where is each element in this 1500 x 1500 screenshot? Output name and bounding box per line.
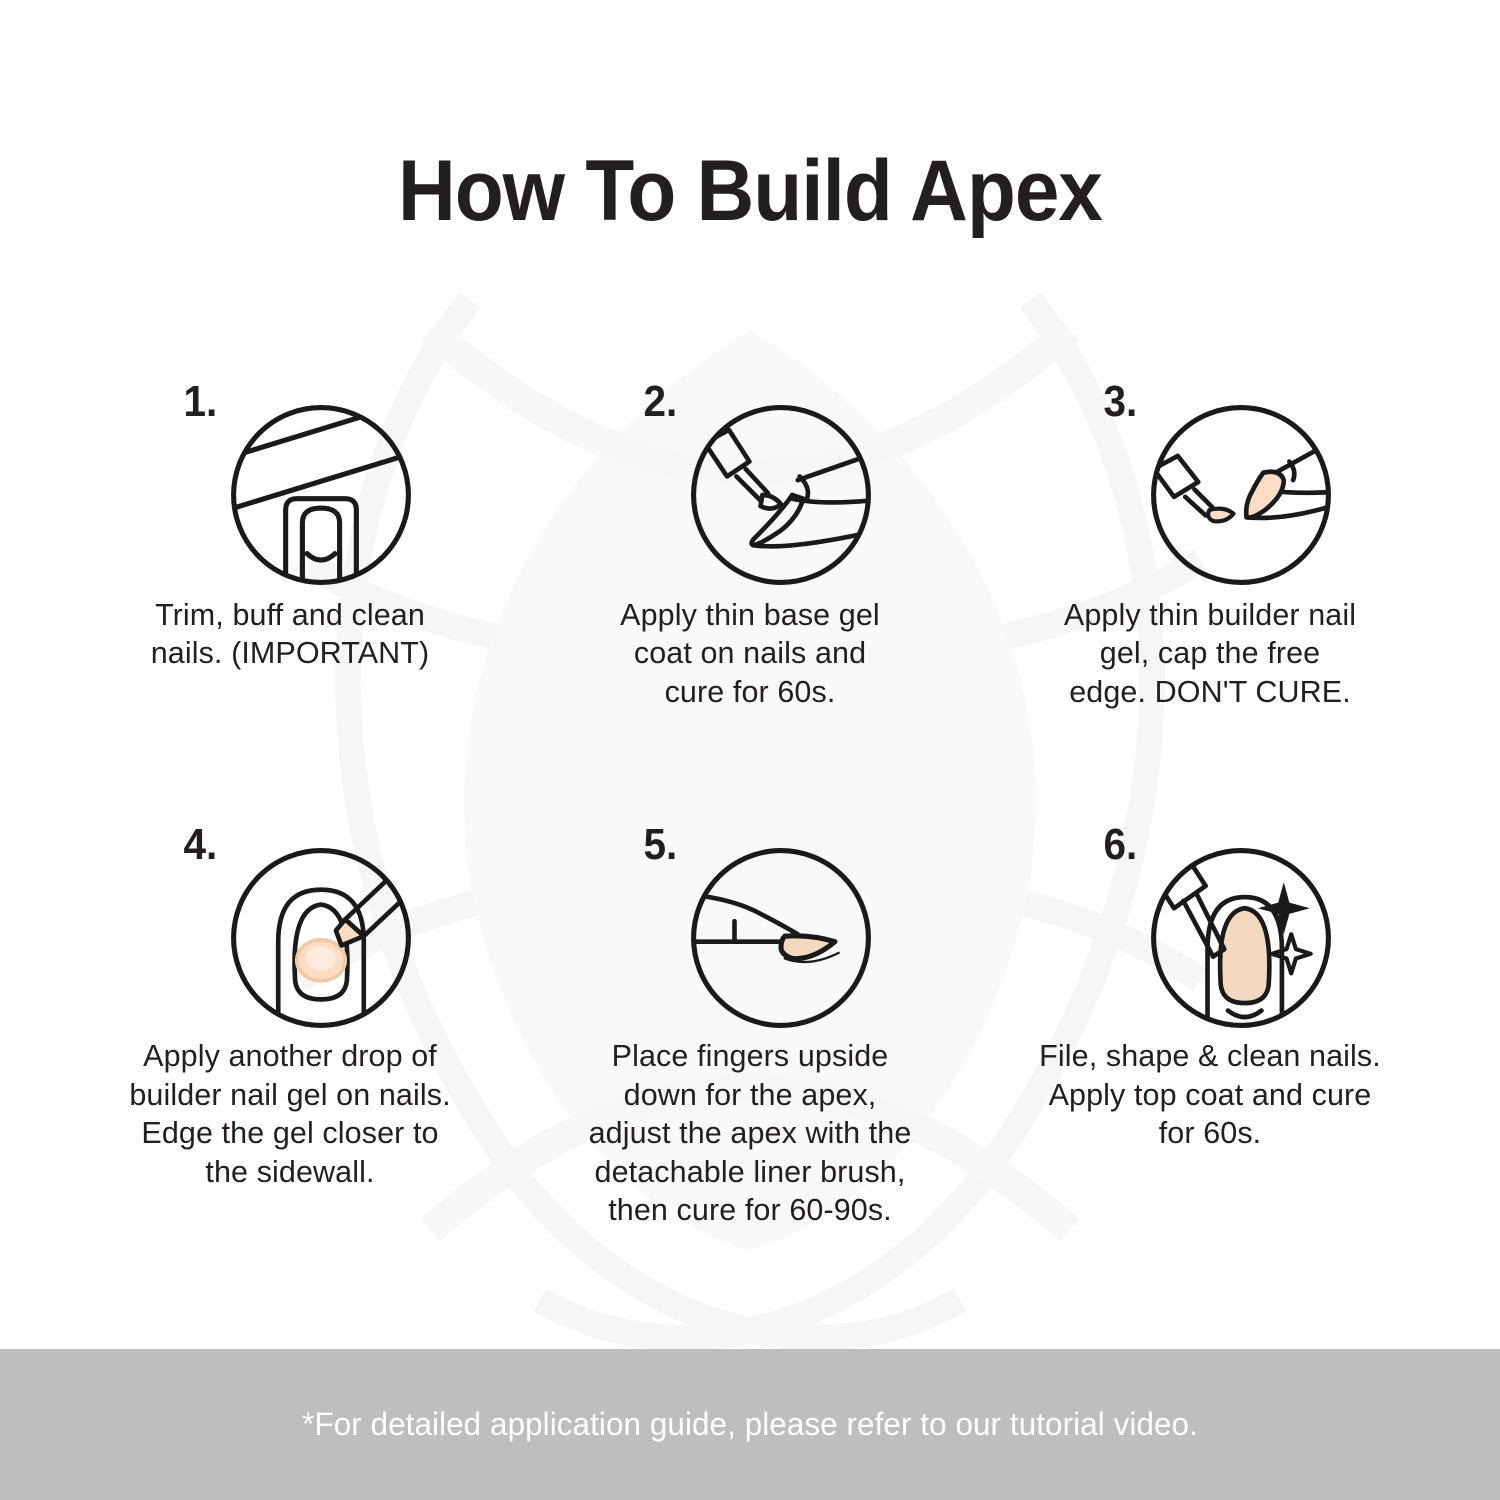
step-4-illustration-row: 4. bbox=[140, 823, 440, 1033]
steps-grid: 1. bbox=[60, 380, 1440, 1229]
step-5-illustration-row: 5. bbox=[600, 823, 900, 1033]
footer-banner: *For detailed application guide, please … bbox=[0, 1349, 1500, 1500]
step-6-caption: File, shape & clean nails. Apply top coa… bbox=[995, 1037, 1425, 1152]
step-3-number: 3. bbox=[1103, 380, 1137, 424]
step-5: 5. bbox=[520, 823, 980, 1229]
step-6-illustration-row: 6. bbox=[1060, 823, 1360, 1033]
step-2-number: 2. bbox=[643, 380, 677, 424]
step-2-illustration-row: 2. bbox=[600, 380, 900, 590]
step-2: 2. bbox=[520, 380, 980, 711]
step-3-illustration-row: 3. bbox=[1060, 380, 1360, 590]
step-1: 1. bbox=[60, 380, 520, 711]
brush-base-coat-side-icon bbox=[688, 402, 874, 588]
infographic-page: How To Build Apex 1. bbox=[0, 0, 1500, 1500]
step-2-caption: Apply thin base gel coat on nails and cu… bbox=[535, 596, 965, 711]
step-4-caption: Apply another drop of builder nail gel o… bbox=[75, 1037, 505, 1191]
step-3: 3. bbox=[980, 380, 1440, 711]
footer-note: *For detailed application guide, please … bbox=[302, 1406, 1198, 1443]
nail-file-buffing-icon bbox=[228, 402, 414, 588]
finger-upside-down-apex-icon bbox=[688, 845, 874, 1031]
step-1-number: 1. bbox=[183, 380, 217, 424]
step-4: 4. bbox=[60, 823, 520, 1229]
step-1-caption: Trim, buff and clean nails. (IMPORTANT) bbox=[75, 596, 505, 673]
step-4-number: 4. bbox=[183, 823, 217, 867]
page-title: How To Build Apex bbox=[53, 148, 1448, 234]
step-1-illustration-row: 1. bbox=[140, 380, 440, 590]
step-5-caption: Place fingers upside down for the apex, … bbox=[535, 1037, 965, 1229]
brush-top-coat-sparkle-icon bbox=[1148, 845, 1334, 1031]
brush-gel-drop-on-nail-icon bbox=[228, 845, 414, 1031]
step-6: 6. bbox=[980, 823, 1440, 1229]
step-5-number: 5. bbox=[643, 823, 677, 867]
step-6-number: 6. bbox=[1103, 823, 1137, 867]
brush-builder-gel-cap-edge-icon bbox=[1148, 402, 1334, 588]
step-3-caption: Apply thin builder nail gel, cap the fre… bbox=[995, 596, 1425, 711]
